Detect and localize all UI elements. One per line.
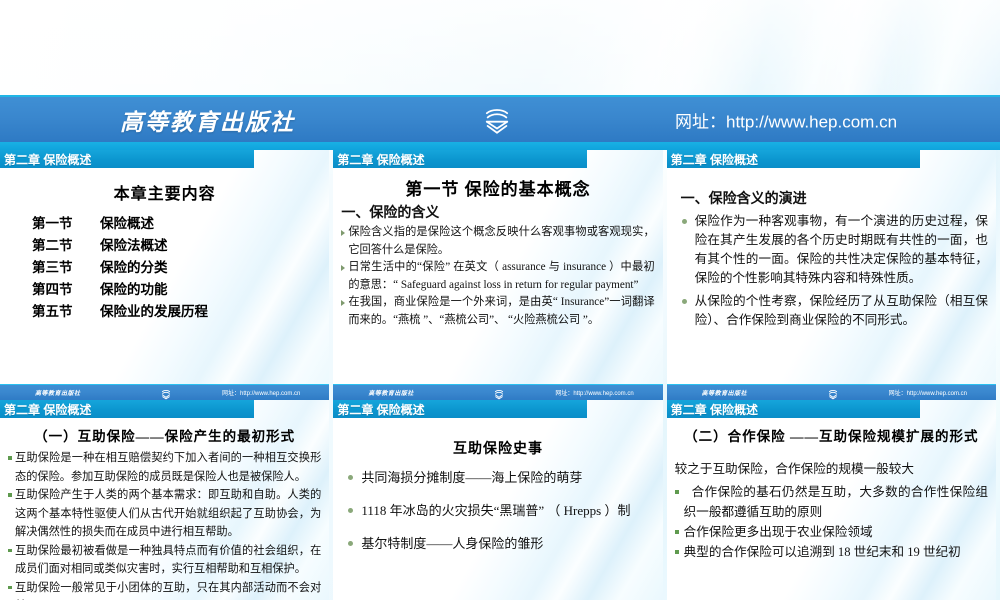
slide-thumbnail-4[interactable]: 第二章 保险概述 （一）互助保险——保险产生的最初形式 互助保险是一种在相互赔偿… [0,400,333,600]
list-item: 基尔特制度——人身保险的雏形 [347,534,654,553]
list-item: 在我国，商业保险是一个外来词，是由英“ Insurance”一词翻译而来的。“燕… [341,294,654,329]
toc-section-number: 第四节 [32,279,100,301]
list-item: 互助保险是一种在相互赔偿契约下加入者间的一种相互交换形态的保险。参加互助保险的成… [8,449,321,486]
list-item: 第一节 保险概述 [32,213,321,235]
publisher-website-url: 网址：http://www.hep.com.cn [675,107,897,132]
slide-body: （一）互助保险——保险产生的最初形式 互助保险是一种在相互赔偿契约下加入者间的一… [0,418,329,600]
list-item: 互助保险一般常见于小团体的互助，只在其内部活动而不会对其 [8,579,321,600]
chapter-title-text: 第二章 保险概述 [337,151,424,168]
footer-publisher-text: 高等教育出版社 [702,388,748,397]
chapter-title-text: 第二章 保险概述 [4,151,91,168]
chapter-title-bar: 第二章 保险概述 [0,150,254,168]
footer-publisher-text: 高等教育出版社 [368,388,414,397]
slide-heading: 一、保险的含义 [341,202,654,222]
slide-body: （二）合作保险 ——互助保险规模扩展的形式 较之于互助保险，合作保险的规模一般较… [667,418,996,562]
list-item: 互助保险产生于人类的两个基本需求：即互助和自助。人类的这两个基本特性驱使人们从古… [8,486,321,542]
slide-title: （二）合作保险 ——互助保险规模扩展的形式 [675,425,988,445]
hep-book-emblem-icon [480,103,514,137]
slide-thumbnail-3[interactable]: 第二章 保险概述 一、保险含义的演进 保险作为一种客观事物，有一个演进的历史过程… [667,150,1000,400]
slide-body: 本章主要内容 第一节 保险概述 第二节 保险法概述 第三节 保险的分类 [0,168,329,323]
hep-book-emblem-icon [160,387,172,399]
slide-thumbnail-2[interactable]: 第二章 保险概述 第一节 保险的基本概念 一、保险的含义 保险含义指的是保险这个… [333,150,666,400]
slide-lead-text: 较之于互助保险，合作保险的规模一般较大 [675,459,988,479]
slide-sheet-page: 高等教育出版社 网址：http://www.hep.com.cn 第二章 保险概… [0,0,1000,600]
list-item: 日常生活中的“保险” 在英文（ assurance 与 insurance ）中… [341,259,654,294]
chapter-title-bar: 第二章 保险概述 [667,150,921,168]
list-item: 保险含义指的是保险这个概念反映什么客观事物或客观现实，它回答什么是保险。 [341,224,654,259]
chapter-title-text: 第二章 保险概述 [671,151,758,168]
list-item: 共同海损分摊制度——海上保险的萌芽 [347,468,654,487]
slide-title: （一）互助保险——保险产生的最初形式 [8,425,321,445]
table-of-contents: 第一节 保险概述 第二节 保险法概述 第三节 保险的分类 第四节 [32,213,321,323]
footer-website-url: 网址：http://www.hep.com.cn [222,388,300,397]
toc-section-name: 保险的功能 [100,279,168,301]
slide-title: 互助保险史事 [341,438,654,458]
chapter-title-bar: 第二章 保险概述 [0,400,254,418]
chapter-title-bar: 第二章 保险概述 [333,400,587,418]
slide-title: 第一节 保险的基本概念 [341,175,654,200]
slide-footer: 高等教育出版社 网址：http://www.hep.com.cn [0,384,329,400]
chapter-title-bar: 第二章 保险概述 [333,150,587,168]
banner-cyan-strip [0,142,1000,150]
slide-body: 一、保险含义的演进 保险作为一种客观事物，有一个演进的历史过程，保险在其产生发展… [667,168,996,330]
slide-body: 互助保险史事 共同海损分摊制度——海上保险的萌芽 1118 年冰岛的火灾损失“黑… [333,418,662,553]
banner-top-cap [0,95,1000,97]
chapter-title-bar: 第二章 保险概述 [667,400,921,418]
toc-section-name: 保险的分类 [100,257,168,279]
bullet-list: 合作保险的基石仍然是互助，大多数的合作性保险组织一般都遵循互助的原则 合作保险更… [675,482,988,562]
footer-publisher-text: 高等教育出版社 [35,388,81,397]
toc-section-number: 第三节 [32,257,100,279]
bullet-list: 互助保险是一种在相互赔偿契约下加入者间的一种相互交换形态的保险。参加互助保险的成… [8,449,321,600]
list-item: 合作保险的基石仍然是互助，大多数的合作性保险组织一般都遵循互助的原则 [675,482,988,522]
toc-section-number: 第一节 [32,213,100,235]
bullet-list: 共同海损分摊制度——海上保险的萌芽 1118 年冰岛的火灾损失“黑瑞普” （ H… [347,468,654,553]
list-item: 第四节 保险的功能 [32,279,321,301]
list-item: 第三节 保险的分类 [32,257,321,279]
footer-website-url: 网址：http://www.hep.com.cn [555,388,633,397]
chapter-title-text: 第二章 保险概述 [337,401,424,418]
chapter-title-text: 第二章 保险概述 [671,401,758,418]
toc-section-name: 保险概述 [100,213,154,235]
list-item: 典型的合作保险可以追溯到 18 世纪末和 19 世纪初 [675,542,988,562]
slide-footer: 高等教育出版社 网址：http://www.hep.com.cn [667,384,996,400]
chapter-title-text: 第二章 保险概述 [4,401,91,418]
list-item: 从保险的个性考察，保险经历了从互助保险（相互保险）、合作保险到商业保险的不同形式… [681,292,988,330]
list-item: 第二节 保险法概述 [32,235,321,257]
slide-thumbnail-5[interactable]: 第二章 保险概述 互助保险史事 共同海损分摊制度——海上保险的萌芽 1118 年… [333,400,666,600]
list-item: 保险作为一种客观事物，有一个演进的历史过程，保险在其产生发展的各个历史时期既有共… [681,212,988,288]
bullet-list: 保险含义指的是保险这个概念反映什么客观事物或客观现实，它回答什么是保险。 日常生… [341,224,654,329]
bullet-list: 保险作为一种客观事物，有一个演进的历史过程，保险在其产生发展的各个历史时期既有共… [681,212,988,330]
slide-thumbnail-1[interactable]: 第二章 保险概述 本章主要内容 第一节 保险概述 第二节 保险法概述 [0,150,333,400]
slide-thumbnail-6[interactable]: 第二章 保险概述 （二）合作保险 ——互助保险规模扩展的形式 较之于互助保险，合… [667,400,1000,600]
list-item: 1118 年冰岛的火灾损失“黑瑞普” （ Hrepps ）制 [347,501,654,520]
slide-body: 第一节 保险的基本概念 一、保险的含义 保险含义指的是保险这个概念反映什么客观事… [333,168,662,329]
slide-footer: 高等教育出版社 网址：http://www.hep.com.cn [333,384,662,400]
toc-section-number: 第二节 [32,235,100,257]
hep-book-emblem-icon [493,387,505,399]
slide-heading: 一、保险含义的演进 [681,188,988,208]
list-item: 合作保险更多出现于农业保险领域 [675,522,988,542]
hep-book-emblem-icon [827,387,839,399]
publisher-logo-text: 高等教育出版社 [120,103,295,137]
toc-section-name: 保险业的发展历程 [100,301,208,323]
toc-section-name: 保险法概述 [100,235,168,257]
footer-website-url: 网址：http://www.hep.com.cn [889,388,967,397]
slide-grid: 第二章 保险概述 本章主要内容 第一节 保险概述 第二节 保险法概述 [0,150,1000,600]
list-item: 互助保险最初被看做是一种独具特点而有价值的社会组织，在成员们面对相同或类似灾害时… [8,542,321,579]
master-banner: 高等教育出版社 网址：http://www.hep.com.cn [0,97,1000,142]
slide-title: 本章主要内容 [8,180,321,204]
list-item: 第五节 保险业的发展历程 [32,301,321,323]
toc-section-number: 第五节 [32,301,100,323]
